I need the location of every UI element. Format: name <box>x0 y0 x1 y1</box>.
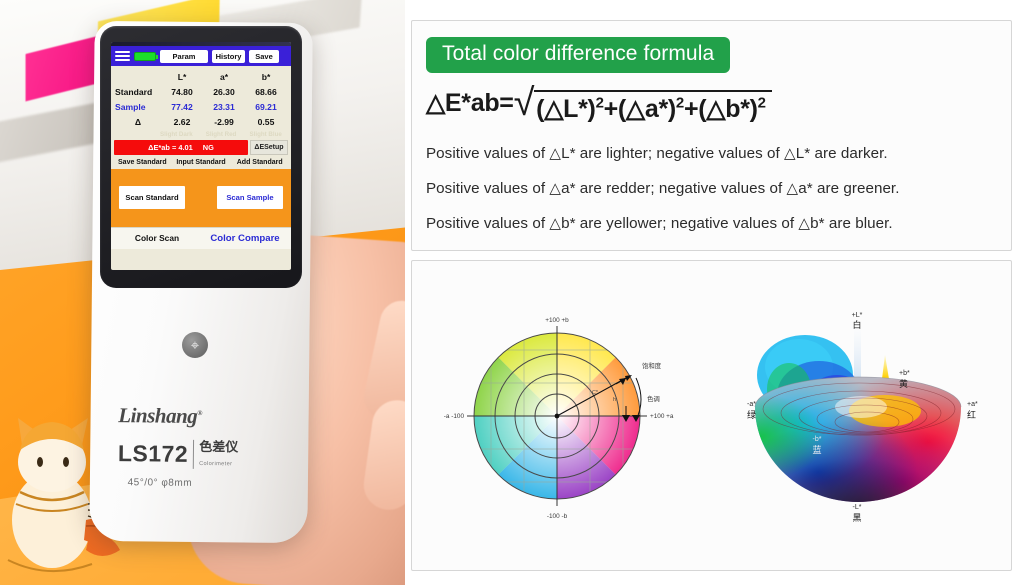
wheel-label-top: +100 +b <box>545 317 569 324</box>
solid-label-bottom-cn: 黑 <box>853 513 862 523</box>
solid-label-left-axis: -a* <box>747 401 756 408</box>
table-row: Δ 2.62 -2.99 0.55 <box>115 115 287 130</box>
sample-label: Sample <box>115 99 161 114</box>
header-blank <box>115 69 161 84</box>
standard-label: Standard <box>115 84 161 99</box>
hint-dark: Slight Dark <box>154 131 199 138</box>
delta-b: 0.55 <box>245 115 287 130</box>
model-chinese-block: 色差仪 Colorimeter <box>193 440 238 469</box>
delta-e-bar: ΔE*ab = 4.01 NG ΔESetup <box>111 138 291 157</box>
scan-standard-button[interactable]: Scan Standard <box>119 186 185 209</box>
formula-card: Total color difference formula △E*ab= √ … <box>411 20 1012 251</box>
device-branding: Linshang® LS172 色差仪 Colorimeter 45°/0° φ… <box>118 403 289 490</box>
solid-label-top-cn: 白 <box>853 319 862 330</box>
solid-label-blue-cn: 蓝 <box>813 444 822 455</box>
table-header-row: L* a* b* <box>115 69 287 84</box>
param-button[interactable]: Param <box>160 50 208 63</box>
explanation-b: Positive values of △b* are yellower; neg… <box>426 214 997 232</box>
sample-a: 23.31 <box>203 99 245 114</box>
product-photo: Param History Save L* a* b* Standard 74.… <box>0 0 405 585</box>
tab-color-scan[interactable]: Color Scan <box>113 233 201 244</box>
screenshot-root: Param History Save L* a* b* Standard 74.… <box>0 0 1024 585</box>
sample-b: 69.21 <box>245 99 287 114</box>
delta-l: 2.62 <box>161 115 203 130</box>
input-standard-button[interactable]: Input Standard <box>172 159 231 166</box>
lab-ab-color-wheel: +100 +b -100 -b -a -100 +100 +a 饱和度 色调 C… <box>440 306 698 526</box>
standard-a: 26.30 <box>203 84 245 99</box>
standard-actions-row: Save Standard Input Standard Add Standar… <box>111 157 291 169</box>
model-chinese: 色差仪 <box>199 440 238 453</box>
wheel-label-hue: 色调 <box>647 394 660 403</box>
delta-label: Δ <box>115 115 161 130</box>
delta-e-setup-button[interactable]: ΔESetup <box>250 140 288 155</box>
solid-label-top-axis: +L* <box>852 312 863 319</box>
delta-e-result: ΔE*ab = 4.01 NG <box>114 140 248 155</box>
save-standard-button[interactable]: Save Standard <box>113 159 172 166</box>
model-number: LS172 <box>118 440 189 468</box>
registered-mark: ® <box>197 409 202 417</box>
solid-label-yellow-cn: 黄 <box>899 378 908 389</box>
formula-lhs: △E*ab= <box>426 88 514 118</box>
exp-l: 2 <box>596 95 604 112</box>
scan-panel: Scan Standard Scan Sample <box>111 169 291 227</box>
header-b-star: b* <box>245 69 287 84</box>
solid-label-bottom-axis: -L* <box>853 504 862 511</box>
table-row: Standard 74.80 26.30 68.66 <box>115 84 287 99</box>
sample-l: 77.42 <box>161 99 203 114</box>
delta-hints-row: Slight Dark Slight Red Slight Blue <box>111 131 291 138</box>
header-a-star: a* <box>203 69 245 84</box>
formula-title-badge: Total color difference formula <box>426 37 730 73</box>
header-l-star: L* <box>161 69 203 84</box>
history-button[interactable]: History <box>212 50 245 63</box>
device-spec: 45°/0° φ8mm <box>128 477 288 490</box>
wheel-label-left: -a -100 <box>444 413 465 420</box>
wheel-label-saturation: 饱和度 <box>642 361 662 370</box>
model-line: LS172 色差仪 Colorimeter <box>118 439 288 470</box>
explanation-a: Positive values of △a* are redder; negat… <box>426 179 997 197</box>
lab-values-table: L* a* b* Standard 74.80 26.30 68.66 Samp… <box>115 69 287 130</box>
device-bottom-tabs: Color Scan Color Compare <box>111 227 291 249</box>
brand-logo: Linshang® <box>118 403 202 429</box>
right-panel: Total color difference formula △E*ab= √ … <box>405 0 1024 585</box>
solid-label-left-cn: 绿 <box>747 409 756 420</box>
wheel-label-h: h <box>613 397 616 403</box>
formula-radicand: (△L*)2+(△a*)2+(△b*)2 <box>534 90 772 124</box>
delta-e-formula: △E*ab= √ (△L*)2+(△a*)2+(△b*)2 <box>426 88 997 124</box>
save-button[interactable]: Save <box>249 50 279 63</box>
brand-name-text: Linshang <box>118 403 197 428</box>
formula-term-a: +(△a*) <box>604 95 676 123</box>
solid-label-right-cn: 红 <box>967 409 976 420</box>
solid-label-blue-axis: -b* <box>813 436 822 443</box>
wheel-label-c: C* <box>592 390 599 396</box>
formula-term-l: (△L*) <box>536 95 595 123</box>
formula-term-b: +(△b*) <box>684 95 758 123</box>
delta-e-value: ΔE*ab = 4.01 <box>148 143 193 152</box>
tab-color-compare[interactable]: Color Compare <box>201 233 289 244</box>
hint-red: Slight Red <box>199 131 244 138</box>
model-english: Colorimeter <box>199 461 232 467</box>
square-root-icon: √ <box>514 86 535 120</box>
scan-sample-button[interactable]: Scan Sample <box>217 186 283 209</box>
solid-label-right-axis: +a* <box>967 401 978 408</box>
lab-readings-panel: L* a* b* Standard 74.80 26.30 68.66 Samp… <box>111 66 291 130</box>
formula-explanations: Positive values of △L* are lighter; nega… <box>426 144 997 232</box>
battery-icon <box>134 52 156 61</box>
device-screen: Param History Save L* a* b* Standard 74.… <box>111 42 291 270</box>
solid-label-yellow-axis: +b* <box>899 370 910 377</box>
bluetooth-icon: ⌖ <box>182 332 208 358</box>
standard-l: 74.80 <box>161 84 203 99</box>
device-toolbar: Param History Save <box>111 46 291 66</box>
exp-b: 2 <box>758 95 766 112</box>
diagram-card: +100 +b -100 -b -a -100 +100 +a 饱和度 色调 C… <box>411 260 1012 571</box>
lab-color-solid-3d: +L* 白 -L* 黑 +a* 红 -a* 绿 +b* 黄 -b* 蓝 <box>733 303 983 528</box>
wheel-label-right: +100 +a <box>650 413 674 420</box>
table-row: Sample 77.42 23.31 69.21 <box>115 99 287 114</box>
add-standard-button[interactable]: Add Standard <box>230 159 289 166</box>
hint-blue: Slight Blue <box>243 131 288 138</box>
standard-b: 68.66 <box>245 84 287 99</box>
explanation-l: Positive values of △L* are lighter; nega… <box>426 144 997 162</box>
wheel-label-bottom: -100 -b <box>547 513 568 520</box>
delta-a: -2.99 <box>203 115 245 130</box>
delta-e-verdict: NG <box>203 143 214 152</box>
exp-a: 2 <box>676 95 684 112</box>
hamburger-menu-icon[interactable] <box>115 51 130 61</box>
